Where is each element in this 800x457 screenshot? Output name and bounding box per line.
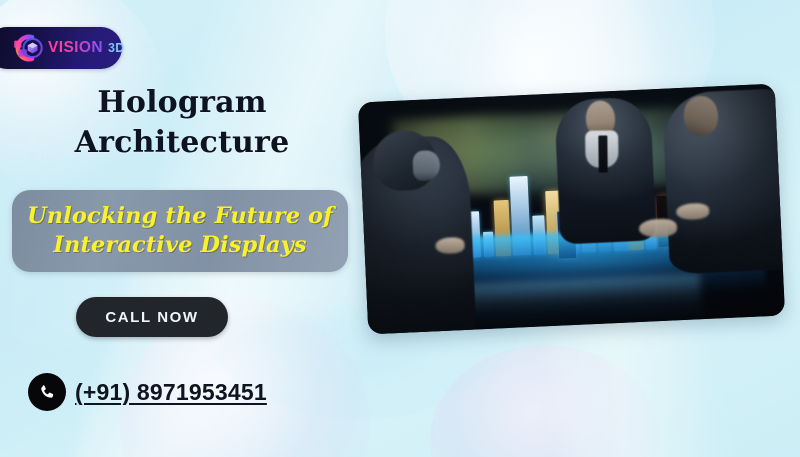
- brand-name-secondary: 3D: [108, 42, 125, 55]
- subtitle-banner: Unlocking the Future of Interactive Disp…: [12, 190, 348, 272]
- scene-vignette: [358, 84, 785, 335]
- page-title: Hologram Architecture: [22, 83, 342, 163]
- headline-line-1: Hologram: [97, 85, 266, 120]
- phone-handset-icon: [28, 373, 66, 411]
- promo-banner: VISION 3D Hologram Architecture Unlockin…: [0, 0, 800, 457]
- subtitle-line-2: Interactive Displays: [53, 231, 306, 260]
- brand-logo[interactable]: VISION 3D: [0, 27, 122, 69]
- headline-line-2: Architecture: [22, 123, 342, 163]
- contact-phone-row[interactable]: (+91) 8971953451: [28, 372, 267, 412]
- brand-logo-text: VISION 3D: [48, 40, 125, 56]
- brand-name-primary: VISION: [48, 40, 103, 56]
- background-bubble-bottom-right: [430, 345, 660, 457]
- vision3d-c-cube-icon: [12, 32, 46, 64]
- hero-image-scene: [358, 84, 785, 335]
- hero-image: [358, 84, 785, 335]
- call-now-button[interactable]: CALL NOW: [76, 297, 228, 337]
- phone-number[interactable]: (+91) 8971953451: [75, 379, 267, 406]
- subtitle-line-1: Unlocking the Future of: [27, 202, 333, 231]
